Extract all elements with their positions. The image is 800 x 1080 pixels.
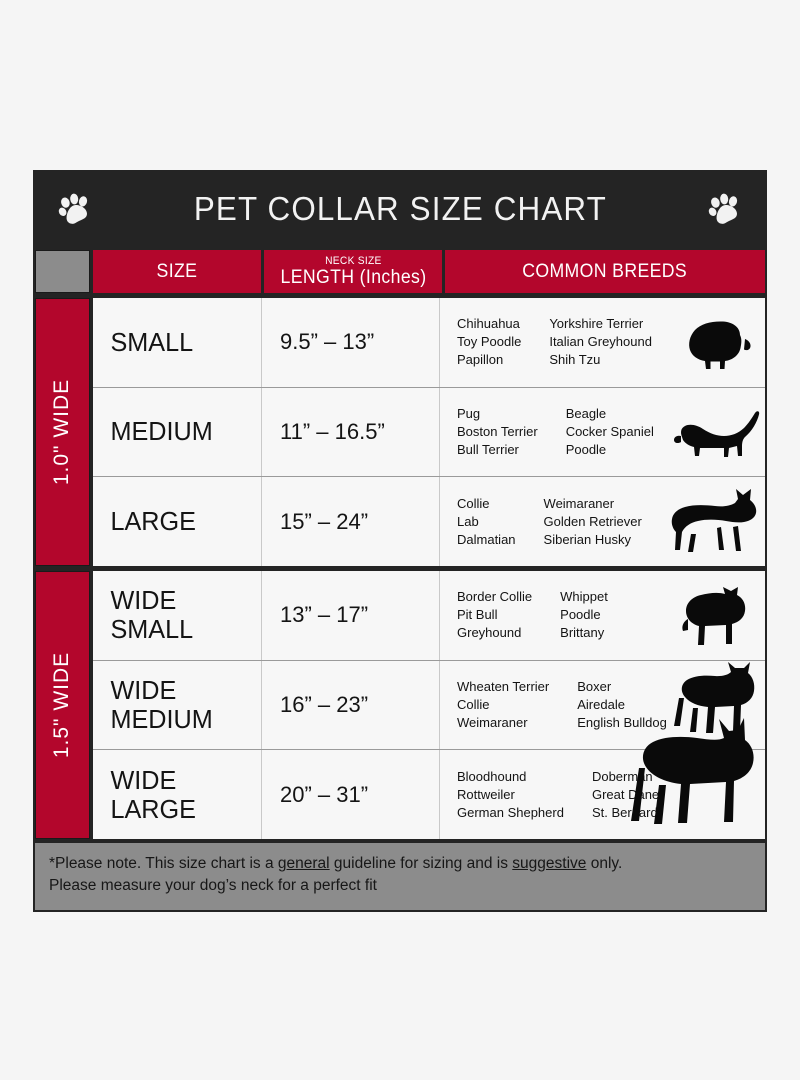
cell-size: WIDE MEDIUM [93, 676, 256, 734]
group-label-1point5-inch-text: 1.5" WIDE [51, 652, 75, 758]
cell-size: WIDE SMALL [93, 586, 256, 644]
cell-size: MEDIUM [93, 417, 256, 446]
cell-breeds: Border Collie Pit Bull Greyhound Whippet… [439, 571, 765, 660]
beagle-silhouette [669, 406, 761, 466]
column-header-length: NECK SIZE LENGTH (Inches) [264, 250, 442, 293]
breed-item: Dalmatian [457, 531, 516, 549]
breed-item: Lab [457, 513, 516, 531]
column-header-length-label: LENGTH (Inches) [280, 268, 426, 287]
chart-title-bar: PET COLLAR SIZE CHART [33, 170, 767, 248]
breed-item: Golden Retriever [544, 513, 642, 531]
breed-item: Shih Tzu [549, 351, 652, 369]
breed-column-1: Border Collie Pit Bull Greyhound [457, 588, 532, 642]
paw-print-icon [705, 189, 745, 229]
breed-item: Bull Terrier [457, 441, 538, 459]
chart-body: 1.0" WIDE SMALL 9.5” – 13” Chihuahua Toy… [33, 296, 767, 841]
page-root: PET COLLAR SIZE CHART SIZE NECK SIZE LEN… [0, 0, 800, 1080]
breed-column-1: Chihuahua Toy Poodle Papillon [457, 315, 521, 369]
footnote-line-1: *Please note. This size chart is a gener… [49, 853, 751, 875]
breed-item: Italian Greyhound [549, 333, 652, 351]
group-2-rows: WIDE SMALL 13” – 17” Border Collie Pit B… [93, 571, 765, 839]
breed-item: Airedale [577, 696, 667, 714]
cell-length: 11” – 16.5” [261, 388, 439, 477]
table-row[interactable]: SMALL 9.5” – 13” Chihuahua Toy Poodle Pa… [93, 298, 765, 388]
cell-size: LARGE [93, 507, 256, 536]
breed-item: Rottweiler [457, 786, 564, 804]
breed-item: Papillon [457, 351, 521, 369]
paw-print-icon [55, 189, 95, 229]
breed-item: Chihuahua [457, 315, 521, 333]
breed-item: Toy Poodle [457, 333, 521, 351]
column-header-length-sublabel: NECK SIZE [325, 256, 382, 267]
breed-item: Pit Bull [457, 606, 532, 624]
footnote-text-c: only. [586, 855, 622, 872]
breed-item: Pug [457, 405, 538, 423]
footnote-line-2: Please measure your dog’s neck for a per… [49, 875, 751, 897]
breed-column-1: Bloodhound Rottweiler German Shepherd [457, 768, 564, 822]
cell-breeds: Bloodhound Rottweiler German Shepherd Do… [439, 750, 765, 839]
column-header-size-label: SIZE [157, 262, 198, 281]
breed-item: Bloodhound [457, 768, 564, 786]
breed-column-2: Doberman Great Dane St. Bernard [592, 768, 659, 822]
boxer-silhouette [665, 661, 763, 749]
breed-item: Doberman [592, 768, 659, 786]
cell-size: WIDE LARGE [93, 766, 256, 824]
breed-column-1: Pug Boston Terrier Bull Terrier [457, 405, 538, 459]
group-label-1point5-inch: 1.5" WIDE [35, 571, 90, 839]
breed-column-2: Yorkshire Terrier Italian Greyhound Shih… [549, 315, 652, 369]
footnote-text-a: *Please note. This size chart is a [49, 855, 278, 872]
breed-column-2: Beagle Cocker Spaniel Poodle [566, 405, 654, 459]
column-header-row: SIZE NECK SIZE LENGTH (Inches) COMMON BR… [33, 248, 767, 296]
pet-collar-size-chart: PET COLLAR SIZE CHART SIZE NECK SIZE LEN… [33, 170, 767, 912]
breed-item: Poodle [560, 606, 608, 624]
breed-item: Collie [457, 696, 549, 714]
column-header-size: SIZE [93, 250, 261, 293]
breed-item: Weimaraner [457, 714, 549, 732]
breed-item: Weimaraner [544, 495, 642, 513]
cell-breeds: Collie Lab Dalmatian Weimaraner Golden R… [439, 477, 765, 566]
breed-item: Border Collie [457, 588, 532, 606]
breed-column-2: Whippet Poodle Brittany [560, 588, 608, 642]
table-row[interactable]: LARGE 15” – 24” Collie Lab Dalmatian Wei… [93, 477, 765, 566]
breed-item: St. Bernard [592, 804, 659, 822]
breed-item: Whippet [560, 588, 608, 606]
breed-item: Collie [457, 495, 516, 513]
shepherd-silhouette [663, 486, 763, 564]
table-row[interactable]: MEDIUM 11” – 16.5” Pug Boston Terrier Bu… [93, 388, 765, 478]
cell-breeds: Pug Boston Terrier Bull Terrier Beagle C… [439, 388, 765, 477]
group-label-1-inch: 1.0" WIDE [35, 298, 90, 566]
cell-length: 16” – 23” [261, 661, 439, 750]
breed-item: Great Dane [592, 786, 659, 804]
bulldog-silhouette [673, 584, 751, 658]
table-row[interactable]: WIDE SMALL 13” – 17” Border Collie Pit B… [93, 571, 765, 661]
cell-length: 9.5” – 13” [261, 298, 439, 387]
breed-item: German Shepherd [457, 804, 564, 822]
breed-item: English Bulldog [577, 714, 667, 732]
breed-item: Cocker Spaniel [566, 423, 654, 441]
cell-length: 13” – 17” [261, 571, 439, 660]
breed-column-1: Wheaten Terrier Collie Weimaraner [457, 678, 549, 732]
group-1point5-inch: 1.5" WIDE WIDE SMALL 13” – 17” Border Co… [33, 569, 767, 841]
table-row[interactable]: WIDE MEDIUM 16” – 23” Wheaten Terrier Co… [93, 661, 765, 751]
corner-spacer-box [35, 250, 90, 293]
cell-length: 20” – 31” [261, 750, 439, 839]
breed-item: Siberian Husky [544, 531, 642, 549]
cell-breeds: Wheaten Terrier Collie Weimaraner Boxer … [439, 661, 765, 750]
cell-length: 15” – 24” [261, 477, 439, 566]
footnote-underline-suggestive: suggestive [512, 855, 586, 872]
group-label-1-inch-text: 1.0" WIDE [51, 379, 75, 485]
pomeranian-silhouette [681, 315, 755, 373]
table-row[interactable]: WIDE LARGE 20” – 31” Bloodhound Rottweil… [93, 750, 765, 839]
breed-item: Greyhound [457, 624, 532, 642]
breed-column-2: Weimaraner Golden Retriever Siberian Hus… [544, 495, 642, 549]
column-header-breeds-label: COMMON BREEDS [523, 262, 688, 281]
group-1-inch: 1.0" WIDE SMALL 9.5” – 13” Chihuahua Toy… [33, 296, 767, 569]
breed-item: Yorkshire Terrier [549, 315, 652, 333]
breed-item: Boston Terrier [457, 423, 538, 441]
breed-item: Wheaten Terrier [457, 678, 549, 696]
cell-breeds: Chihuahua Toy Poodle Papillon Yorkshire … [439, 298, 765, 387]
breed-item: Poodle [566, 441, 654, 459]
footnote-note: *Please note. This size chart is a gener… [33, 841, 767, 912]
page-title: PET COLLAR SIZE CHART [193, 190, 606, 228]
column-header-breeds: COMMON BREEDS [445, 250, 765, 293]
breed-item: Boxer [577, 678, 667, 696]
breed-item: Beagle [566, 405, 654, 423]
group-1-rows: SMALL 9.5” – 13” Chihuahua Toy Poodle Pa… [93, 298, 765, 566]
breed-item: Brittany [560, 624, 608, 642]
cell-size: SMALL [93, 328, 256, 357]
footnote-text-b: guideline for sizing and is [330, 855, 513, 872]
breed-column-2: Boxer Airedale English Bulldog [577, 678, 667, 732]
breed-column-1: Collie Lab Dalmatian [457, 495, 516, 549]
footnote-underline-general: general [278, 855, 330, 872]
